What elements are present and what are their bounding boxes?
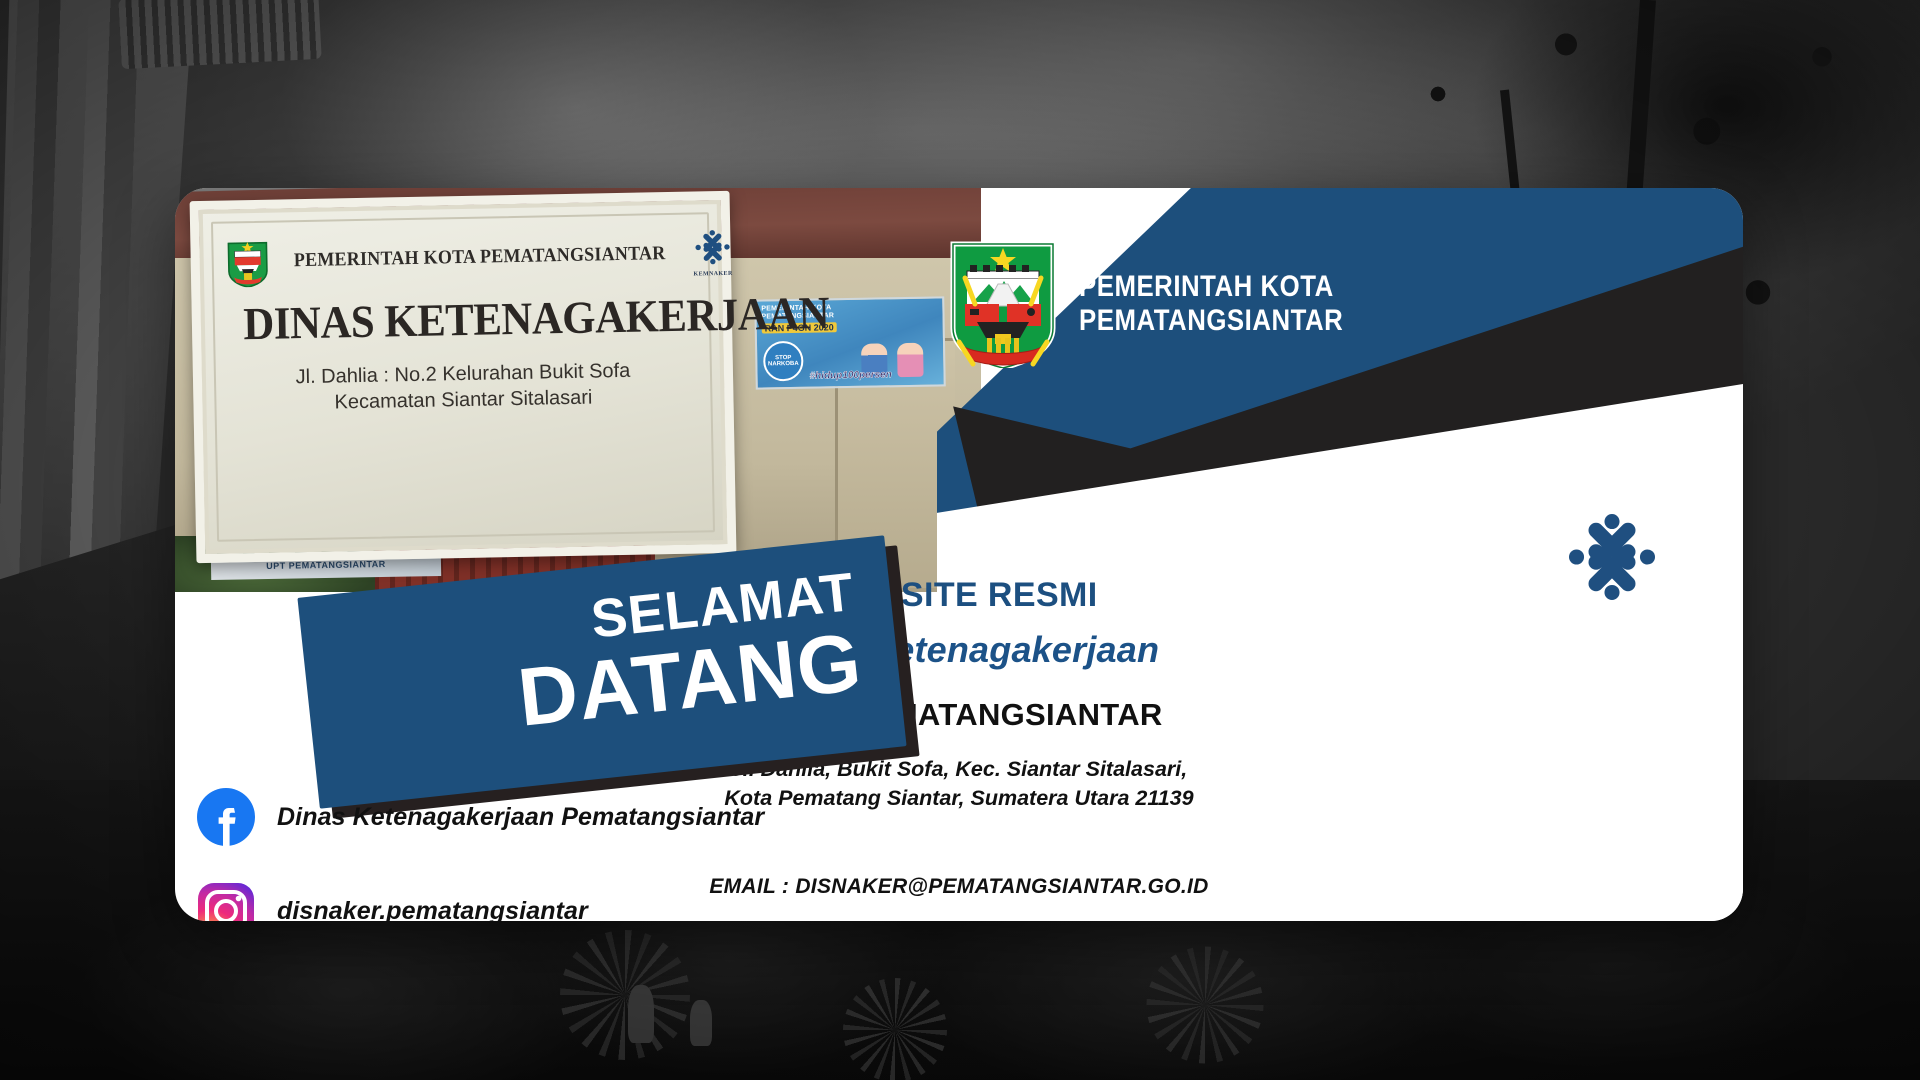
main-card: PEMERINTAH KOTA PEMATANGSIANTAR RAN P4GN… (175, 188, 1743, 921)
header-title: PEMERINTAH KOTA PEMATANGSIANTAR (1079, 270, 1343, 337)
signboard-inner: PEMERINTAH KOTA PEMATANGSIANTAR (211, 212, 715, 542)
instagram-icon[interactable] (197, 882, 255, 921)
signboard-address: Jl. Dahlia : No.2 Kelurahan Bukit Sofa K… (228, 357, 699, 417)
banner-hashtag: #hidup100persen (809, 369, 891, 382)
city-crest-icon (943, 234, 1063, 368)
instagram-handle[interactable]: disnaker.pematangsiantar (277, 897, 588, 922)
signboard-kemnaker-label: KEMNAKER (690, 271, 736, 278)
header-title-line-1: PEMERINTAH KOTA (1079, 270, 1343, 304)
signboard-header-row: PEMERINTAH KOTA PEMATANGSIANTAR (225, 229, 696, 288)
social-row-facebook[interactable]: Dinas Ketenagakerjaan Pematangsiantar (175, 788, 981, 846)
signboard-office-name: DINAS KETENAGAKERJAAN (243, 289, 681, 350)
social-row-instagram[interactable]: disnaker.pematangsiantar (175, 882, 981, 921)
signboard: PEMERINTAH KOTA PEMATANGSIANTAR (190, 191, 737, 563)
social-links: Dinas Ketenagakerjaan Pematangsiantar (175, 788, 981, 921)
facebook-icon[interactable] (197, 788, 255, 846)
signboard-kemnaker: KEMNAKER (689, 229, 736, 278)
office-sign-photo: PEMERINTAH KOTA PEMATANGSIANTAR RAN P4GN… (175, 188, 981, 592)
banner-kid (897, 343, 924, 377)
header-title-line-2: PEMATANGSIANTAR (1079, 304, 1343, 338)
facebook-handle[interactable]: Dinas Ketenagakerjaan Pematangsiantar (277, 803, 764, 832)
kemnaker-logo-icon (694, 229, 731, 266)
signboard-government-line: PEMERINTAH KOTA PEMATANGSIANTAR (294, 243, 666, 272)
stop-narkoba-badge: STOP NARKOBA (763, 341, 804, 382)
city-crest-icon (225, 237, 270, 288)
